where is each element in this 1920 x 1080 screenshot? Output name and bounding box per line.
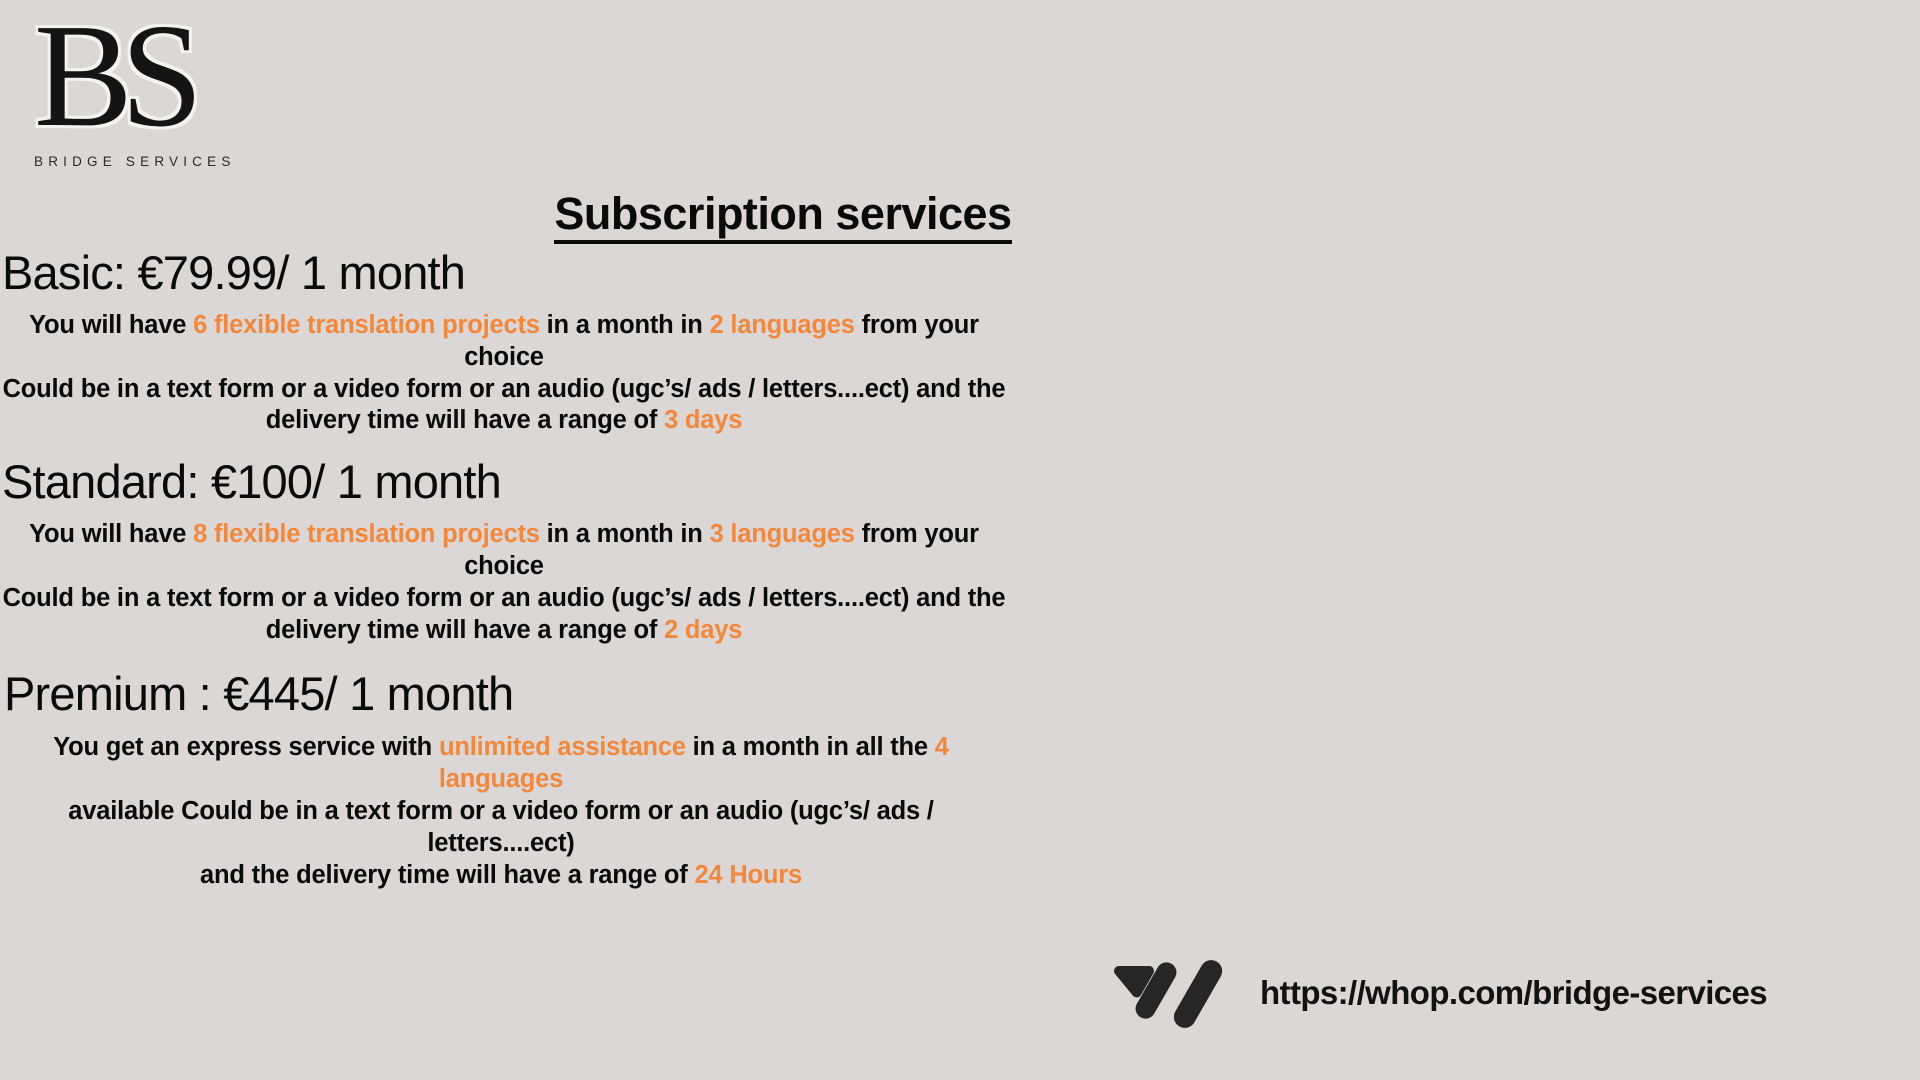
footer-url[interactable]: https://whop.com/bridge-services: [1260, 974, 1767, 1012]
tier-standard-line1-part1: You will have: [29, 520, 193, 548]
tier-premium-assistance-highlight: unlimited assistance: [439, 733, 686, 761]
brand-wordmark: BRIDGE SERVICES: [34, 154, 236, 169]
page-title: Subscription services: [0, 188, 1566, 240]
tier-premium-line2: available Could be in a text form or a v…: [68, 797, 933, 857]
tier-standard-heading: Standard: €100/ 1 month: [2, 457, 1012, 507]
pricing-tiers: Basic: €79.99/ 1 month You will have 6 f…: [0, 248, 1012, 892]
tier-standard-languages-highlight: 3 languages: [710, 520, 855, 548]
brand-monogram: BS: [34, 8, 234, 148]
tier-premium-description: You get an express service with unlimite…: [4, 732, 998, 891]
tier-standard-delivery-highlight: 2 days: [664, 616, 742, 644]
tier-premium-heading: Premium : €445/ 1 month: [4, 669, 1012, 719]
tier-basic-delivery-highlight: 3 days: [664, 406, 742, 434]
tier-premium-line1-part2: in a month in all the: [686, 733, 935, 761]
tier-premium: Premium : €445/ 1 month You get an expre…: [0, 669, 1012, 892]
whop-logo-icon: [1112, 955, 1234, 1031]
tier-basic-languages-highlight: 2 languages: [710, 311, 855, 339]
page-title-text: Subscription services: [554, 188, 1011, 244]
tier-standard-line3-part1: delivery time will have a range of: [266, 616, 664, 644]
brand-monogram-text: BS: [34, 2, 191, 150]
tier-basic: Basic: €79.99/ 1 month You will have 6 f…: [0, 248, 1012, 437]
tier-basic-heading: Basic: €79.99/ 1 month: [2, 248, 1012, 298]
tier-standard: Standard: €100/ 1 month You will have 8 …: [0, 457, 1012, 646]
tier-basic-description: You will have 6 flexible translation pro…: [2, 310, 1006, 438]
tier-basic-line1-part2: in a month in: [540, 311, 710, 339]
tier-basic-projects-highlight: 6 flexible translation projects: [193, 311, 540, 339]
tier-premium-line3-part1: and the delivery time will have a range …: [200, 861, 694, 889]
footer: https://whop.com/bridge-services: [1112, 955, 1767, 1031]
tier-standard-line2: Could be in a text form or a video form …: [3, 584, 1006, 612]
tier-basic-line2: Could be in a text form or a video form …: [3, 375, 1006, 403]
tier-basic-line3-part1: delivery time will have a range of: [266, 406, 664, 434]
tier-standard-description: You will have 8 flexible translation pro…: [2, 519, 1006, 647]
tier-standard-line1-part2: in a month in: [540, 520, 710, 548]
tier-premium-delivery-highlight: 24 Hours: [694, 861, 802, 889]
tier-standard-projects-highlight: 8 flexible translation projects: [193, 520, 540, 548]
tier-basic-line1-part1: You will have: [29, 311, 193, 339]
brand-logo: BS BRIDGE SERVICES: [18, 8, 248, 188]
tier-premium-line1-part1: You get an express service with: [53, 733, 439, 761]
